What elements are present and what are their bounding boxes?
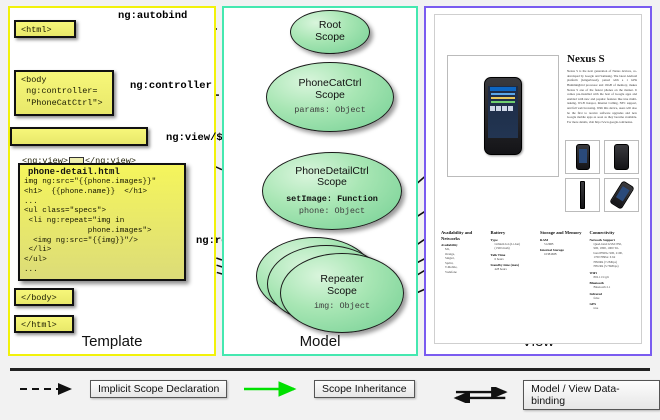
spec-group-values: Bluetooth 2.1 — [590, 285, 637, 289]
spec-heading: Storage and Memory — [540, 230, 587, 236]
spec-group-values: false — [590, 296, 637, 300]
panel-template-label: Template — [10, 333, 214, 350]
dashed-arrow-icon — [18, 381, 82, 397]
spec-heading: Battery — [491, 230, 538, 236]
product-title: Nexus S — [567, 53, 605, 65]
legend-label: Model / View Data-binding — [523, 380, 660, 410]
scope-phonecatctrl: PhoneCatCtrl Scope params: Object — [266, 62, 394, 132]
spec-group-values: M1, Orange, Singtel, Sprint, T-Mobile, V… — [441, 247, 488, 274]
legend-label: Scope Inheritance — [314, 380, 415, 398]
tag-html-close: </html> — [14, 315, 74, 333]
code-callout-title: phone-detail.html — [20, 165, 184, 178]
legend-divider — [10, 368, 650, 371]
thumbnail-phone-front[interactable] — [565, 140, 600, 174]
spec-column-battery: Battery Type Lithium Ion (Li-Ion) (1500 … — [491, 230, 541, 311]
solid-arrow-icon — [242, 381, 306, 397]
code-callout-body: img ng:src="{{phone.images}}" <h1> {{pho… — [20, 178, 184, 276]
scope-phonedetailctrl: PhoneDetailCtrl Scope setImage: Function… — [262, 152, 402, 230]
legend: Implicit Scope Declaration Scope Inherit… — [0, 366, 660, 420]
scope-root-title: Root Scope — [315, 20, 345, 44]
spec-group-values: true — [590, 306, 637, 310]
panel-model-label: Model — [224, 333, 416, 350]
legend-label: Implicit Scope Declaration — [90, 380, 227, 398]
hero-phone-image — [447, 55, 559, 177]
tag-body-close: </body> — [14, 288, 74, 306]
tag-html-open: <html> — [14, 20, 76, 38]
spec-group-values: 802.11 b/g/n — [590, 275, 637, 279]
code-callout-phone-detail: phone-detail.html img ng:src="{{phone.im… — [18, 163, 186, 281]
spec-column-storage: Storage and Memory RAM 512MB Internal St… — [540, 230, 590, 311]
thumbnail-phone-angle[interactable] — [604, 178, 639, 212]
scope-repeater-front: Repeater Scope img: Object — [280, 253, 404, 333]
spec-heading: Availability and Networks — [441, 230, 488, 241]
product-description: Nexus S is the next generation of Nexus … — [567, 69, 637, 125]
double-arrow-icon — [452, 387, 515, 403]
spec-column-availability: Availability and Networks Availability M… — [441, 230, 491, 311]
phone-illustration-icon — [484, 77, 522, 155]
spec-group-values: 6 hours — [491, 257, 538, 261]
thumbnail-phone-back[interactable] — [604, 140, 639, 174]
legend-item-model-view-data-binding: Model / View Data-binding — [452, 380, 660, 410]
scope-repeater-prop-img: img: Object — [314, 301, 370, 312]
scope-phonecatctrl-title: PhoneCatCtrl Scope — [298, 78, 361, 102]
thumbnail-phone-side[interactable] — [565, 178, 600, 212]
spec-group-values: Lithium Ion (Li-Ion) (1500 mAh) — [491, 242, 538, 251]
tag-body-open: <body ng:controller= "PhoneCatCtrl"> — [14, 70, 114, 116]
connector-label-controller: ng:controller — [130, 80, 212, 92]
spec-group-values: 512MB — [540, 242, 587, 246]
spec-column-connectivity: Connectivity Network Support Quad-band G… — [590, 230, 640, 311]
scope-root: Root Scope — [290, 10, 370, 54]
scope-phonedetailctrl-title: PhoneDetailCtrl Scope — [295, 166, 369, 190]
scope-phonecatctrl-prop-params: params: Object — [294, 105, 365, 116]
legend-item-implicit-scope-declaration: Implicit Scope Declaration — [18, 380, 227, 398]
scope-repeater-title: Repeater Scope — [320, 274, 363, 298]
scope-phonedetailctrl-prop-setimage: setImage: Function — [286, 194, 378, 205]
phone-screen-icon — [488, 86, 518, 138]
spec-heading: Connectivity — [590, 230, 637, 236]
spec-table: Availability and Networks Availability M… — [441, 230, 639, 311]
thumbnail-grid — [565, 140, 639, 212]
rendered-view-page: Nexus S Nexus S is the next generation o… — [434, 14, 642, 344]
legend-item-scope-inheritance: Scope Inheritance — [242, 380, 415, 398]
repeater-scope-stack: Repeater Scope img: Object — [256, 237, 406, 333]
spec-group-values: 16384MB — [540, 252, 587, 256]
scope-prop-setimage-text: setImage: Function — [286, 194, 378, 204]
tag-ngview: <ng:view> </ng:view> — [10, 127, 148, 146]
connector-label-autobind: ng:autobind — [118, 10, 187, 22]
spec-group-values: Quad-band GSM: 850, 900, 1800, 1900 Tri-… — [590, 242, 637, 269]
diagram-stage: Template <html> <body ng:controller= "Ph… — [0, 0, 660, 420]
spec-group-values: 428 hours — [491, 267, 538, 271]
scope-phonedetailctrl-prop-phone: phone: Object — [299, 206, 365, 217]
